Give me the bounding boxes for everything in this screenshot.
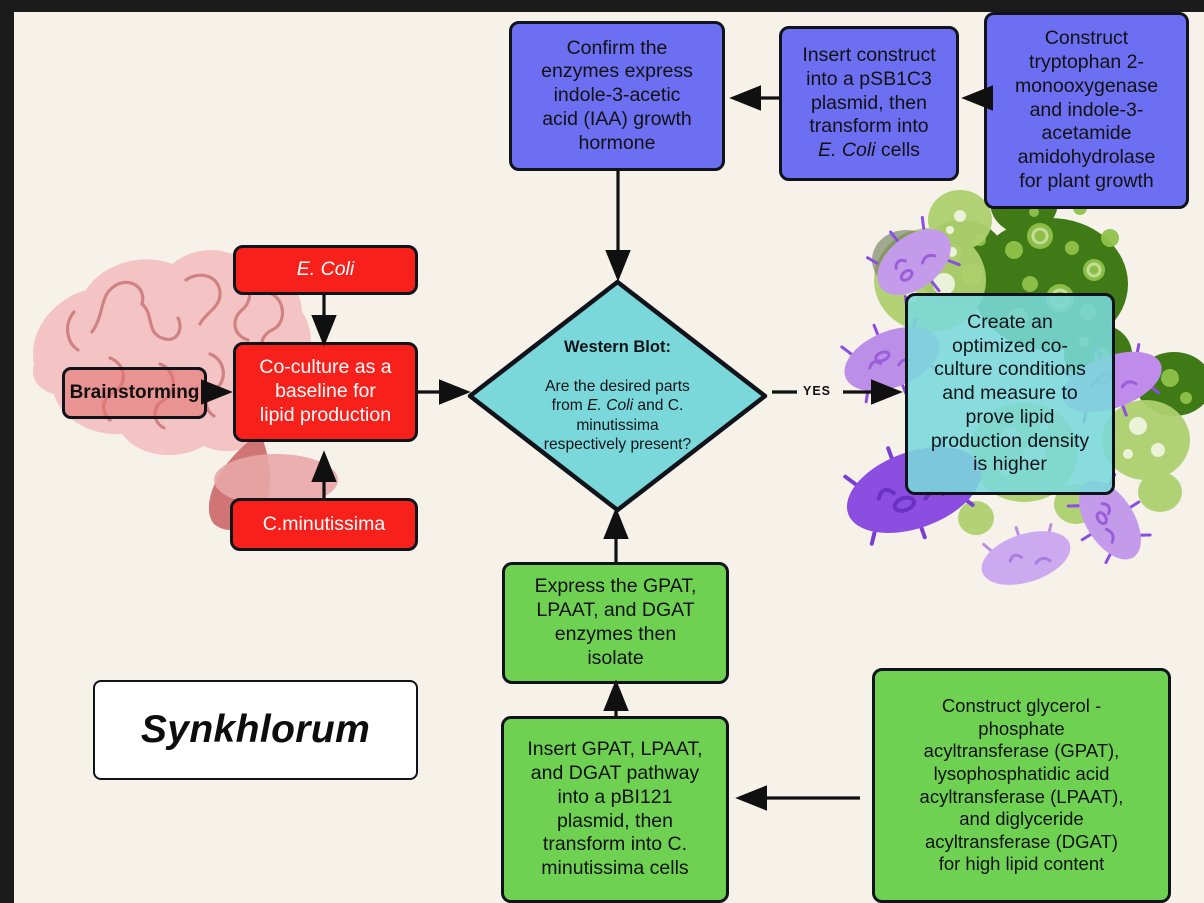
node-construct-tryptophan[interactable]: Construct tryptophan 2- monooxygenase an… <box>984 12 1189 209</box>
node-brainstorming[interactable]: Brainstorming <box>62 367 207 419</box>
node-confirm-enzymes[interactable]: Confirm the enzymes express indole-3-ace… <box>509 21 725 171</box>
node-coculture-label: Co-culture as a baseline for lipid produ… <box>259 356 391 427</box>
species-name-italic: E. Coli <box>818 139 875 161</box>
node-insert-psb1c3-label: Insert construct into a pSB1C3 plasmid, … <box>802 44 935 163</box>
node-insert-pbi121[interactable]: Insert GPAT, LPAAT, and DGAT pathway int… <box>501 716 729 903</box>
node-coculture[interactable]: Co-culture as a baseline for lipid produ… <box>233 342 418 442</box>
node-cminutissima-label: C.minutissima <box>263 513 385 537</box>
node-confirm-enzymes-label: Confirm the enzymes express indole-3-ace… <box>541 37 693 156</box>
flowchart-page: Brainstorming E. Coli Co-culture as a ba… <box>14 12 1204 903</box>
node-cminutissima[interactable]: C.minutissima <box>230 498 418 551</box>
node-construct-tryptophan-label: Construct tryptophan 2- monooxygenase an… <box>1015 27 1158 193</box>
screenshot-canvas: Brainstorming E. Coli Co-culture as a ba… <box>0 0 1204 903</box>
western-blot-body: Are the desired parts from E. Coli and C… <box>508 377 728 454</box>
node-insert-psb1c3[interactable]: Insert construct into a pSB1C3 plasmid, … <box>779 26 959 181</box>
node-express-enzymes[interactable]: Express the GPAT, LPAAT, and DGAT enzyme… <box>502 562 729 684</box>
western-blot-text: Western Blot: Are the desired parts from… <box>508 318 728 474</box>
node-insert-pbi121-label: Insert GPAT, LPAAT, and DGAT pathway int… <box>527 738 702 881</box>
node-ecoli-label: E. Coli <box>297 258 354 282</box>
node-brainstorming-label: Brainstorming <box>70 381 200 404</box>
western-blot-heading: Western Blot: <box>508 337 728 357</box>
node-create-optimized[interactable]: Create an optimized co- culture conditio… <box>905 293 1115 495</box>
node-western-blot-decision[interactable]: Western Blot: Are the desired parts from… <box>465 277 770 515</box>
node-construct-glycerol[interactable]: Construct glycerol - phosphate acyltrans… <box>872 668 1171 903</box>
node-ecoli[interactable]: E. Coli <box>233 245 418 295</box>
edge-label-yes: YES <box>803 384 831 398</box>
title-card: Synkhlorum <box>93 680 418 780</box>
node-express-enzymes-label: Express the GPAT, LPAAT, and DGAT enzyme… <box>535 575 697 670</box>
node-construct-glycerol-label: Construct glycerol - phosphate acyltrans… <box>920 695 1124 876</box>
title-card-label: Synkhlorum <box>141 706 370 754</box>
node-create-optimized-label: Create an optimized co- culture conditio… <box>931 311 1089 477</box>
